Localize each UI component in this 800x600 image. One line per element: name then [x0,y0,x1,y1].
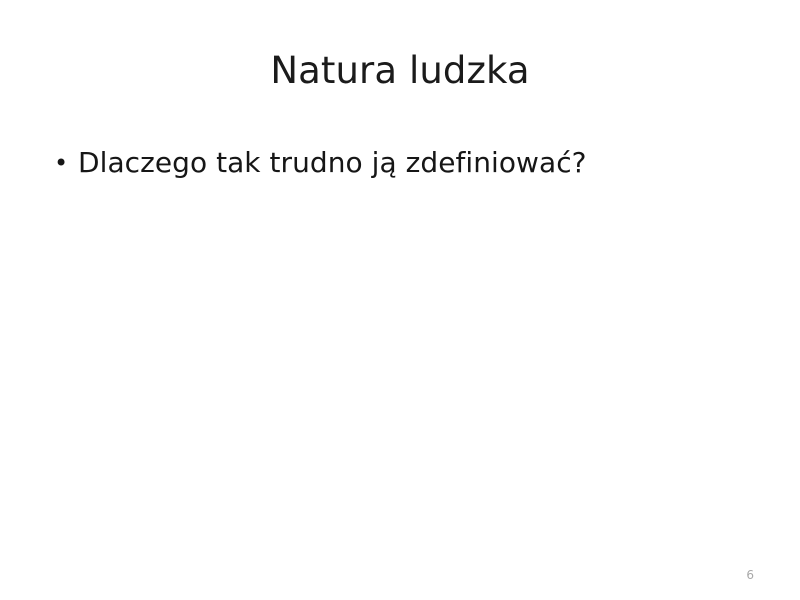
slide-body-placeholder: • Dlaczego tak trudno ją zdefiniować? [48,143,748,189]
slide-number: 6 [714,568,754,582]
list-item-label: Dlaczego tak trudno ją zdefiniować? [78,146,587,179]
bullet-list: • Dlaczego tak trudno ją zdefiniować? [48,143,748,183]
slide-canvas: Natura ludzka • Dlaczego tak trudno ją z… [0,0,800,600]
page-title: Natura ludzka [270,48,529,94]
slide-title-placeholder: Natura ludzka [60,48,740,94]
list-item: • Dlaczego tak trudno ją zdefiniować? [48,143,748,183]
bullet-dot-icon: • [54,143,70,183]
